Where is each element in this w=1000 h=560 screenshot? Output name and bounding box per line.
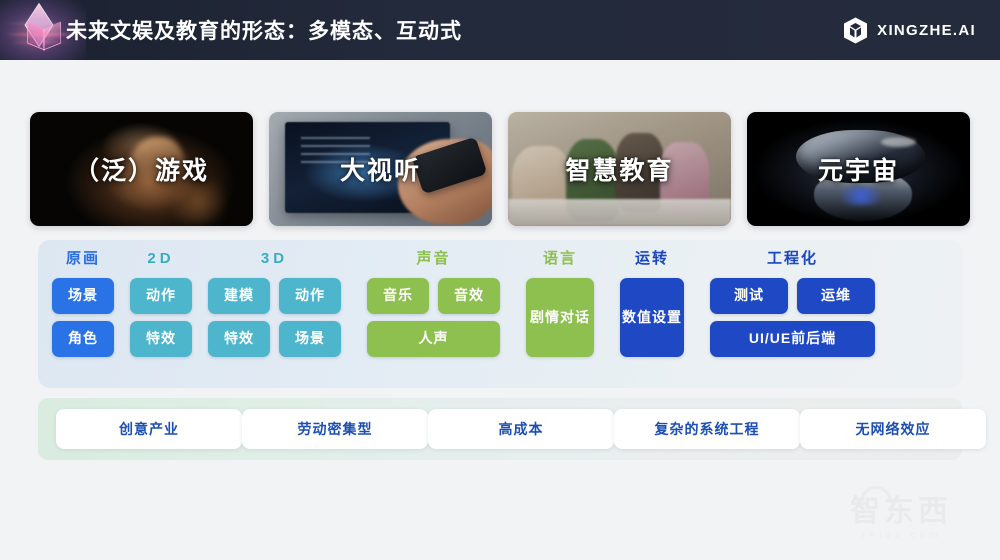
capability-group-3d: 3D 建模 动作 特效 场景	[208, 248, 341, 357]
card-label: 智慧教育	[565, 151, 673, 187]
capability-pill[interactable]: 角色	[52, 321, 114, 357]
card-label: 元宇宙	[818, 151, 899, 187]
group-title: 语言	[543, 248, 577, 270]
capability-pill[interactable]: 动作	[279, 278, 341, 314]
characteristics-band: 创意产业 劳动密集型 高成本 复杂的系统工程 无网络效应	[38, 398, 962, 460]
capability-pill[interactable]: 音乐	[367, 278, 429, 314]
category-card-education[interactable]: 智慧教育	[508, 112, 731, 226]
category-card-game[interactable]: （泛）游戏	[30, 112, 253, 226]
capability-pill[interactable]: UI/UE前后端	[710, 321, 875, 357]
capability-group-2d: 2D 动作 特效	[130, 248, 192, 357]
group-title: 原画	[66, 248, 100, 270]
category-card-av[interactable]: 大视听	[269, 112, 492, 226]
slide-header: 未来文娱及教育的形态：多模态、互动式 XINGZHE.AI	[0, 0, 1000, 60]
capability-pill[interactable]: 数值设置	[620, 278, 684, 357]
watermark-url: zhidx.com	[860, 530, 941, 541]
characteristic-chip[interactable]: 劳动密集型	[242, 409, 428, 449]
capability-pill[interactable]: 测试	[710, 278, 788, 314]
page-title: 未来文娱及教育的形态：多模态、互动式	[66, 0, 462, 60]
capability-pill[interactable]: 音效	[438, 278, 500, 314]
capability-pill[interactable]: 动作	[130, 278, 192, 314]
capability-panel: 原画 场景 角色 2D 动作 特效 3D 建模	[38, 240, 962, 388]
capability-pill[interactable]: 场景	[279, 321, 341, 357]
capability-group-operation: 运转 数值设置	[620, 248, 684, 357]
characteristic-chip[interactable]: 高成本	[428, 409, 614, 449]
capability-group-sound: 声音 音乐 音效 人声	[367, 248, 500, 357]
card-label: （泛）游戏	[74, 151, 209, 187]
characteristic-chip[interactable]: 复杂的系统工程	[614, 409, 800, 449]
characteristic-chip[interactable]: 创意产业	[56, 409, 242, 449]
capability-pill[interactable]: 人声	[367, 321, 500, 357]
capability-group-language: 语言 剧情对话	[526, 248, 594, 357]
group-title: 声音	[416, 248, 450, 270]
characteristic-chip[interactable]: 无网络效应	[800, 409, 986, 449]
brand-name: XINGZHE.AI	[877, 22, 976, 39]
cube-logo-icon	[843, 17, 868, 44]
capability-pill[interactable]: 特效	[130, 321, 192, 357]
capability-group-engineering: 工程化 测试 运维 UI/UE前后端	[710, 248, 875, 357]
capability-pill[interactable]: 运维	[797, 278, 875, 314]
brand-logo: XINGZHE.AI	[843, 0, 976, 60]
capability-pill[interactable]: 特效	[208, 321, 270, 357]
group-title: 3D	[261, 248, 288, 270]
category-card-row: （泛）游戏 大视听 智慧教育	[30, 112, 970, 226]
watermark: 智东西 zhidx.com	[826, 488, 976, 550]
wifi-arc-icon	[860, 486, 892, 503]
capability-pill[interactable]: 剧情对话	[526, 278, 594, 357]
group-title: 运转	[635, 248, 669, 270]
group-title: 2D	[147, 248, 174, 270]
capability-pill[interactable]: 建模	[208, 278, 270, 314]
category-card-metaverse[interactable]: 元宇宙	[747, 112, 970, 226]
card-label: 大视听	[340, 151, 421, 187]
group-title: 工程化	[767, 248, 818, 270]
capability-group-yuanhua: 原画 场景 角色	[52, 248, 114, 357]
capability-pill[interactable]: 场景	[52, 278, 114, 314]
slide-root: 未来文娱及教育的形态：多模态、互动式 XINGZHE.AI （泛）游戏	[0, 0, 1000, 560]
